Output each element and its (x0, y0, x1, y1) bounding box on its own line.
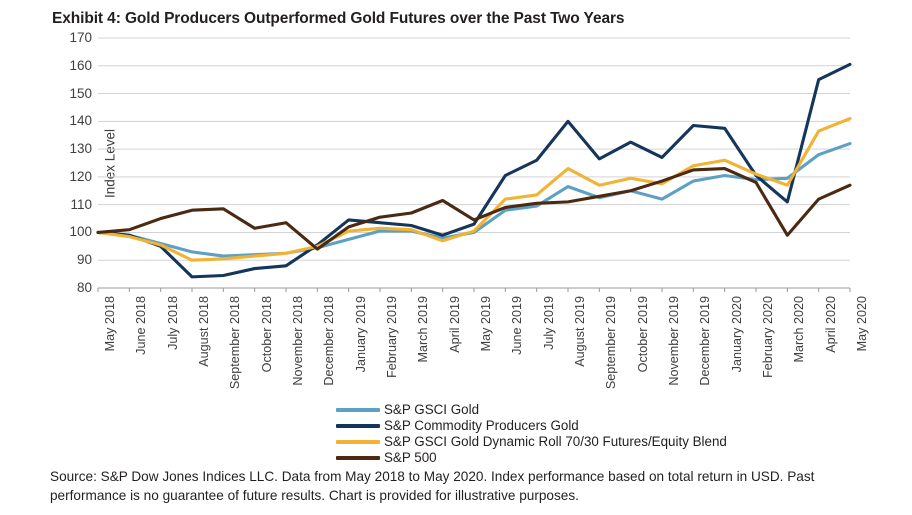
series-line-2 (98, 119, 850, 261)
y-tick-label: 120 (58, 170, 92, 183)
y-tick-label: 140 (58, 114, 92, 127)
legend-label: S&P GSCI Gold (384, 402, 479, 417)
x-tick-label: December 2018 (322, 296, 336, 386)
legend-item[interactable]: S&P 500 (336, 450, 856, 465)
x-tick-label: June 2018 (134, 296, 148, 355)
x-tick-label: September 2018 (228, 296, 242, 389)
x-tick-label: January 2019 (354, 296, 368, 372)
y-tick-label: 160 (58, 59, 92, 72)
x-tick-label: February 2019 (385, 296, 399, 378)
legend-swatch-icon (336, 424, 380, 428)
x-tick-label: December 2019 (698, 296, 712, 386)
x-axis: May 2018June 2018July 2018August 2018Sep… (98, 292, 850, 388)
legend-item[interactable]: S&P Commodity Producers Gold (336, 418, 856, 433)
series-line-0 (98, 144, 850, 256)
source-note: Source: S&P Dow Jones Indices LLC. Data … (50, 467, 850, 505)
x-tick-label: April 2019 (448, 296, 462, 353)
x-tick-label: March 2020 (792, 296, 806, 363)
x-tick-label: January 2020 (730, 296, 744, 372)
y-tick-label: 150 (58, 87, 92, 100)
x-tick-label: July 2019 (542, 296, 556, 350)
series-line-3 (98, 169, 850, 250)
x-tick-label: November 2019 (667, 296, 681, 386)
plot-svg (98, 38, 850, 288)
x-tick-label: May 2020 (855, 296, 869, 351)
x-tick-label: October 2019 (636, 296, 650, 372)
legend-item[interactable]: S&P GSCI Gold (336, 402, 856, 417)
y-tick-label: 100 (58, 225, 92, 238)
plot-area (98, 38, 850, 288)
x-tick-label: March 2019 (416, 296, 430, 363)
legend-label: S&P GSCI Gold Dynamic Roll 70/30 Futures… (384, 434, 727, 449)
y-tick-label: 130 (58, 142, 92, 155)
x-tick-label: July 2018 (166, 296, 180, 350)
legend-swatch-icon (336, 456, 380, 460)
x-tick-label: August 2019 (573, 296, 587, 367)
y-tick-label: 110 (58, 198, 92, 211)
chart-title: Exhibit 4: Gold Producers Outperformed G… (52, 10, 624, 28)
legend-item[interactable]: S&P GSCI Gold Dynamic Roll 70/30 Futures… (336, 434, 856, 449)
x-tick-label: October 2018 (260, 296, 274, 372)
y-tick-label: 80 (58, 281, 92, 294)
legend-swatch-icon (336, 408, 380, 412)
legend-swatch-icon (336, 440, 380, 444)
x-tick-label: November 2018 (291, 296, 305, 386)
legend-label: S&P Commodity Producers Gold (384, 418, 579, 433)
x-tick-label: February 2020 (761, 296, 775, 378)
chart-legend: S&P GSCI GoldS&P Commodity Producers Gol… (336, 402, 856, 466)
series-line-1 (98, 64, 850, 277)
x-tick-label: April 2020 (824, 296, 838, 353)
y-tick-label: 90 (58, 253, 92, 266)
x-tick-label: May 2018 (103, 296, 117, 351)
exhibit-chart-container: Exhibit 4: Gold Producers Outperformed G… (0, 0, 912, 515)
legend-label: S&P 500 (384, 450, 437, 465)
x-tick-label: September 2019 (604, 296, 618, 389)
x-tick-label: May 2019 (479, 296, 493, 351)
y-tick-label: 170 (58, 31, 92, 44)
x-tick-label: August 2018 (197, 296, 211, 367)
x-tick-label: June 2019 (510, 296, 524, 355)
y-axis: Index Level 1701601501401301201101009080 (56, 38, 92, 288)
